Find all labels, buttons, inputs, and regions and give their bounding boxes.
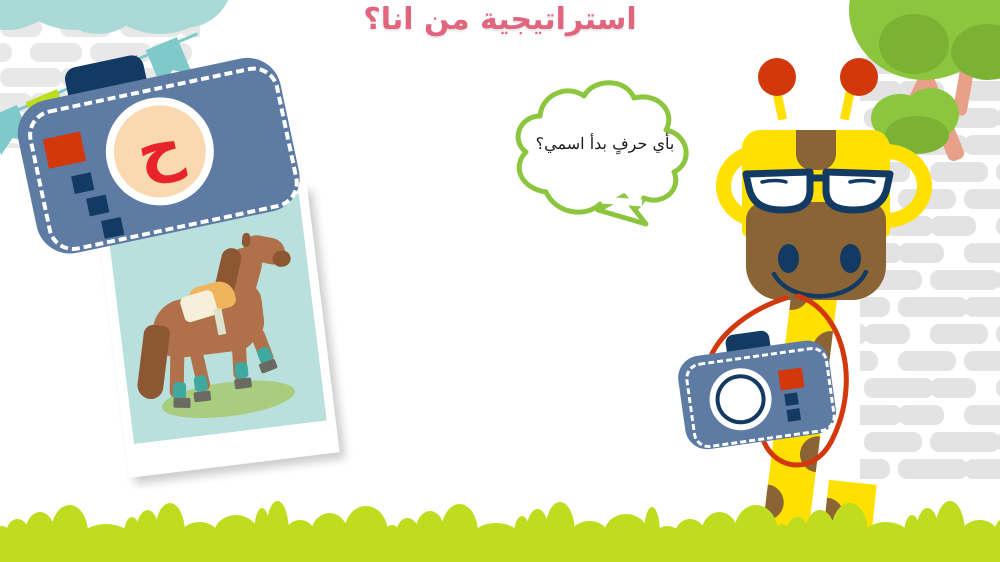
grass-blade <box>604 514 648 536</box>
brick <box>964 351 1000 371</box>
horse-illustration <box>124 227 315 426</box>
grass-blade <box>474 523 518 536</box>
giraffe-character[interactable] <box>700 52 960 552</box>
giraffe-ossicone-knob <box>758 58 796 96</box>
brick <box>996 324 1000 344</box>
grass-blade <box>181 522 218 536</box>
giraffe-glasses <box>740 160 896 218</box>
grass-blade <box>571 521 608 536</box>
speech-bubble-text: بأي حرفٍ بدأ اسمي؟ <box>520 134 690 153</box>
grass-blade <box>994 513 1000 536</box>
speech-bubble: بأي حرفٍ بدأ اسمي؟ <box>506 72 702 232</box>
brick <box>996 378 1000 398</box>
slide-canvas: استراتيجية من انا؟ <box>0 0 1000 562</box>
camera-small-control-square <box>784 392 799 406</box>
grass-blade <box>961 520 998 536</box>
grass-blade <box>51 505 88 536</box>
brick <box>964 459 1000 479</box>
grass-blade <box>84 524 128 536</box>
brick <box>964 405 1000 425</box>
grass-blade <box>734 505 778 536</box>
arabic-letter-haa: ح <box>131 113 188 183</box>
grass-blade <box>831 503 868 536</box>
camera-small-control-square <box>786 408 801 422</box>
grass-blade <box>864 522 908 536</box>
grass-blade <box>701 512 738 536</box>
camera-small[interactable] <box>673 322 839 452</box>
camera-small-shutter-button[interactable] <box>778 367 805 390</box>
grass-blade <box>311 513 348 536</box>
giraffe-eye-right <box>840 244 861 273</box>
giraffe-ossicone-knob <box>840 58 878 96</box>
brick <box>964 243 1000 263</box>
brick <box>964 297 1000 317</box>
grass-blade <box>344 506 388 536</box>
brick <box>996 162 1000 182</box>
grass-blade <box>441 504 478 536</box>
page-title: استراتيجية من انا؟ <box>0 2 1000 37</box>
brick <box>964 189 1000 209</box>
brick <box>996 216 1000 236</box>
giraffe-eye-left <box>778 244 799 273</box>
grass-blade <box>214 515 258 536</box>
grass-border <box>0 504 1000 562</box>
